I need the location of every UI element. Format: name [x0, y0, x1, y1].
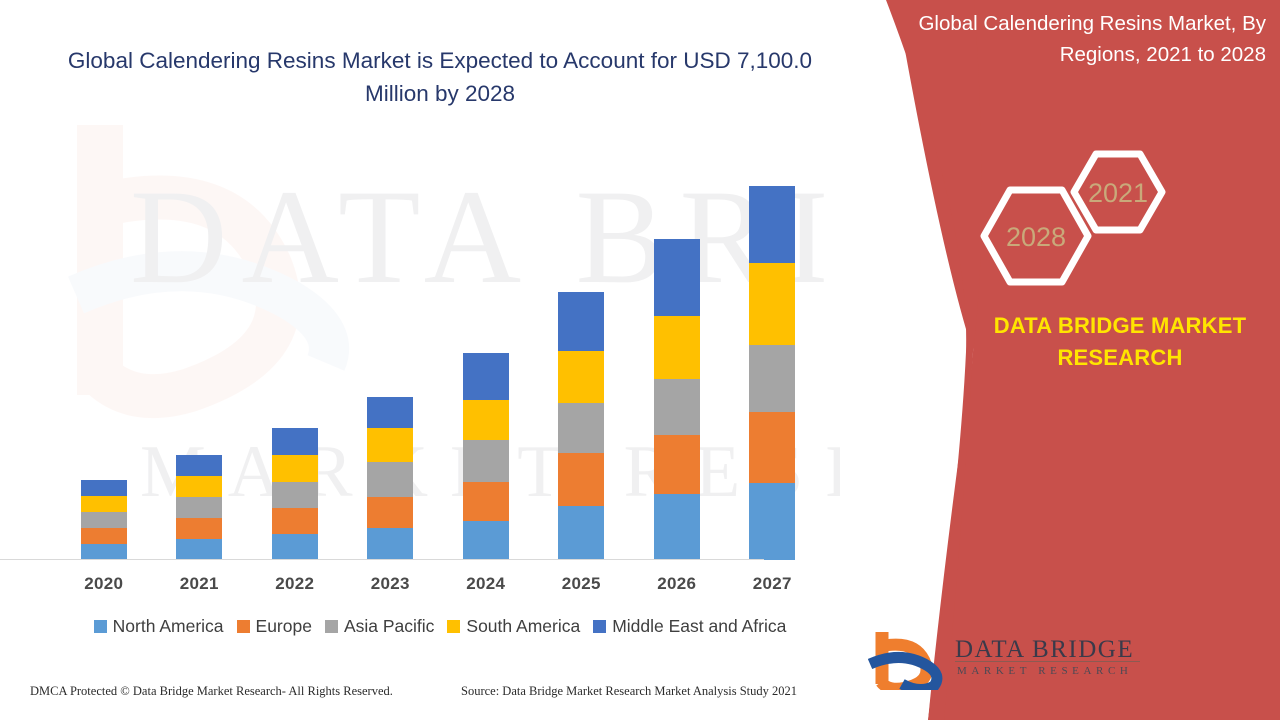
bar-column-2022[interactable] — [272, 428, 318, 560]
bar-segment — [367, 462, 413, 497]
bar-segment — [176, 518, 222, 539]
bar-segment — [749, 263, 795, 345]
bar-segment — [367, 428, 413, 462]
bar-segment — [463, 353, 509, 400]
x-tick-2025: 2025 — [558, 574, 604, 594]
bar-segment — [176, 455, 222, 476]
legend-item[interactable]: South America — [447, 616, 580, 637]
bar-segment — [176, 476, 222, 497]
bar-segment — [272, 534, 318, 560]
bar-segment — [558, 351, 604, 403]
x-tick-2022: 2022 — [272, 574, 318, 594]
legend-swatch-icon — [325, 620, 338, 633]
legend-swatch-icon — [447, 620, 460, 633]
bar-segment — [176, 497, 222, 518]
bar-segment — [81, 512, 127, 528]
legend-label: Asia Pacific — [344, 616, 434, 637]
bar-segment — [272, 455, 318, 482]
legend-label: Europe — [256, 616, 312, 637]
bar-segment — [654, 379, 700, 435]
bar-segment — [749, 412, 795, 483]
bar-segment — [463, 440, 509, 482]
bar-segment — [654, 316, 700, 379]
bar-column-2024[interactable] — [463, 353, 509, 560]
legend-item[interactable]: Europe — [237, 616, 312, 637]
logo-divider — [955, 661, 1140, 662]
legend-label: Middle East and Africa — [612, 616, 786, 637]
bar-column-2021[interactable] — [176, 455, 222, 560]
bar-segment — [558, 403, 604, 453]
legend-swatch-icon — [94, 620, 107, 633]
bar-segment — [81, 480, 127, 496]
bar-segment — [81, 528, 127, 544]
x-tick-2027: 2027 — [749, 574, 795, 594]
bar-segment — [367, 497, 413, 528]
bar-segment — [176, 539, 222, 560]
source-note: Source: Data Bridge Market Research Mark… — [461, 684, 797, 699]
bar-column-2023[interactable] — [367, 397, 413, 560]
hexagon-2021-label: 2021 — [1088, 178, 1148, 208]
hexagon-badges: 2021 2028 — [980, 150, 1180, 290]
bar-segment — [463, 482, 509, 521]
brand-name: DATA BRIDGE MARKET RESEARCH — [975, 310, 1265, 374]
bar-segment — [81, 544, 127, 560]
bar-segment — [654, 239, 700, 316]
chart-panel: Global Calendering Resins Market is Expe… — [0, 0, 900, 720]
bar-segment — [367, 528, 413, 560]
x-tick-2023: 2023 — [367, 574, 413, 594]
chart-plot-area — [56, 150, 820, 560]
bar-segment — [367, 397, 413, 428]
bar-segment — [749, 483, 795, 560]
legend-label: South America — [466, 616, 580, 637]
bar-segment — [463, 521, 509, 560]
x-axis-tick-labels: 20202021202220232024202520262027 — [56, 570, 820, 598]
logo-wordmark: DATA BRIDGE — [955, 636, 1134, 664]
legend-label: North America — [113, 616, 224, 637]
dmca-notice: DMCA Protected © Data Bridge Market Rese… — [30, 684, 393, 699]
bar-segment — [654, 435, 700, 494]
legend-item[interactable]: Asia Pacific — [325, 616, 434, 637]
logo-subtitle: MARKET RESEARCH — [957, 665, 1132, 677]
hexagon-2028-label: 2028 — [1006, 222, 1066, 252]
x-tick-2021: 2021 — [176, 574, 222, 594]
legend-item[interactable]: Middle East and Africa — [593, 616, 786, 637]
legend-swatch-icon — [593, 620, 606, 633]
bar-segment — [749, 345, 795, 412]
bar-segment — [272, 482, 318, 508]
bar-segment — [749, 186, 795, 263]
x-tick-2020: 2020 — [81, 574, 127, 594]
x-tick-2026: 2026 — [654, 574, 700, 594]
panel-title: Global Calendering Resins Market, By Reg… — [858, 8, 1266, 70]
bar-segment — [558, 506, 604, 560]
bar-segment — [654, 494, 700, 560]
bar-segment — [558, 453, 604, 506]
stacked-bar-chart — [56, 150, 820, 560]
x-axis-line — [0, 559, 764, 560]
bar-segment — [81, 496, 127, 512]
bar-segment — [558, 292, 604, 351]
bar-segment — [272, 428, 318, 455]
chart-legend: North AmericaEuropeAsia PacificSouth Ame… — [56, 616, 824, 637]
bar-column-2025[interactable] — [558, 292, 604, 560]
bar-column-2026[interactable] — [654, 239, 700, 560]
page-title: Global Calendering Resins Market is Expe… — [60, 44, 820, 110]
bar-segment — [463, 400, 509, 440]
legend-swatch-icon — [237, 620, 250, 633]
bar-column-2020[interactable] — [81, 480, 127, 560]
footer: DMCA Protected © Data Bridge Market Rese… — [0, 684, 900, 706]
bar-segment — [272, 508, 318, 534]
x-tick-2024: 2024 — [463, 574, 509, 594]
legend-item[interactable]: North America — [94, 616, 224, 637]
bar-column-2027[interactable] — [749, 186, 795, 560]
